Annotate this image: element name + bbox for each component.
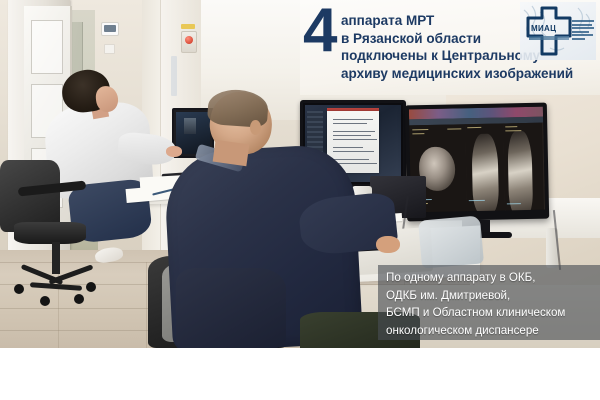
emergency-stop-button (181, 31, 197, 53)
monitor-mri (405, 103, 549, 222)
person-man-ear (250, 120, 261, 135)
person-man-neck (213, 140, 250, 167)
emergency-stop-label (181, 24, 195, 29)
mri-pane-coronal (503, 123, 545, 211)
headline-line-4: архиву медицинских изображений (341, 65, 599, 83)
door-panel-1 (31, 20, 63, 74)
logo-fullname-lines (572, 20, 594, 41)
office-chair-seat (14, 222, 86, 244)
office-chair-post (52, 242, 60, 274)
wall-strip (171, 56, 177, 96)
caption-line-3: БСМП и Областном клиническом (378, 304, 600, 322)
photo-background: 4 аппарата МРТ в Рязанской области подкл… (0, 0, 600, 348)
caption-overlay: По одному аппарату в ОКБ, ОДКБ им. Дмитр… (378, 265, 600, 340)
wall-thermostat (101, 22, 119, 36)
monitor-mri-screen (409, 107, 545, 213)
person-man-back (176, 268, 286, 348)
miac-logo: МИАЦ (520, 2, 596, 60)
plastic-bag (418, 215, 484, 268)
logo-region-strip (529, 36, 569, 40)
person-woman-hand (166, 146, 182, 157)
wall-socket (104, 44, 115, 54)
logo-acronym: МИАЦ (531, 24, 556, 33)
mri-knee-scan-2 (507, 131, 533, 213)
infographic-canvas: 4 аппарата МРТ в Рязанской области подкл… (0, 0, 600, 400)
caption-line-4: онкологическом диспансере (378, 322, 600, 340)
caption-line-1: По одному аппарату в ОКБ, (378, 265, 600, 287)
monitor-small-image (184, 118, 196, 134)
mri-pane-sagittal (465, 123, 506, 211)
caption-line-2: ОДКБ им. Дмитриевой, (378, 287, 600, 305)
headline-number: 4 (303, 0, 335, 62)
person-man-hand (376, 236, 400, 253)
